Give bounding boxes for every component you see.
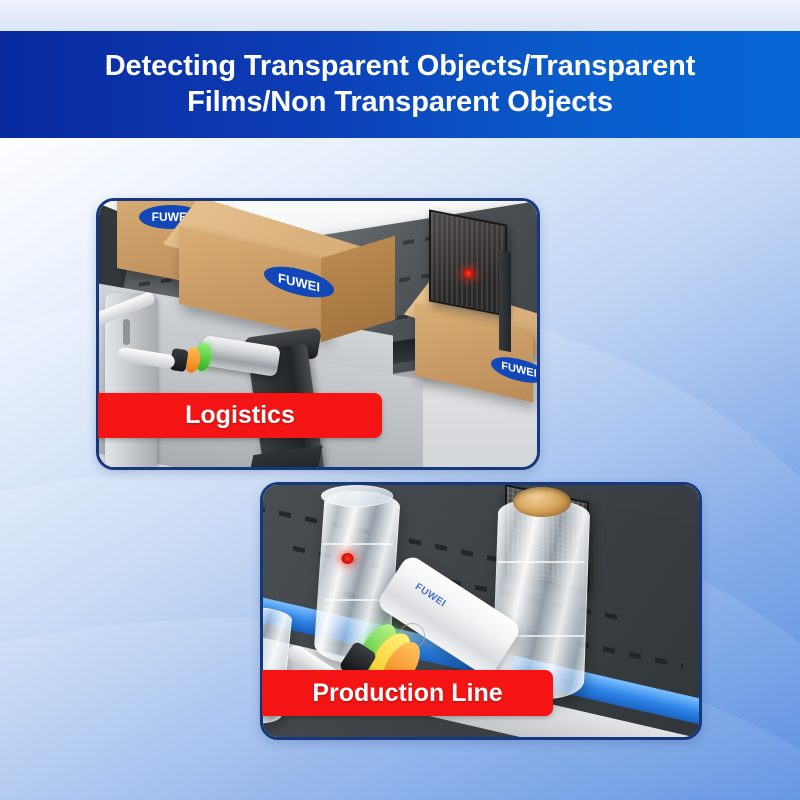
- reflector-panel: [429, 209, 507, 316]
- laser-spot-icon: [463, 269, 474, 278]
- laser-spot-icon: [341, 553, 354, 564]
- poster-root: Detecting Transparent Objects/Transparen…: [0, 0, 800, 800]
- header-band: Detecting Transparent Objects/Transparen…: [0, 31, 800, 138]
- reflector-post: [499, 250, 511, 352]
- label-banner-logistics[interactable]: Logistics: [98, 393, 382, 438]
- film-roll-top-cap: [321, 485, 393, 507]
- film-roll-band: [497, 561, 585, 563]
- top-strip: [0, 0, 800, 31]
- label-banner-logistics-text: Logistics: [185, 401, 295, 430]
- label-banner-production-line[interactable]: Production Line: [262, 670, 553, 716]
- conveyor-post-slot: [123, 319, 130, 345]
- page-title: Detecting Transparent Objects/Transparen…: [50, 49, 750, 120]
- film-roll-cardboard-core: [513, 487, 571, 517]
- label-banner-production-line-text: Production Line: [312, 679, 502, 708]
- film-roll-band: [323, 543, 393, 545]
